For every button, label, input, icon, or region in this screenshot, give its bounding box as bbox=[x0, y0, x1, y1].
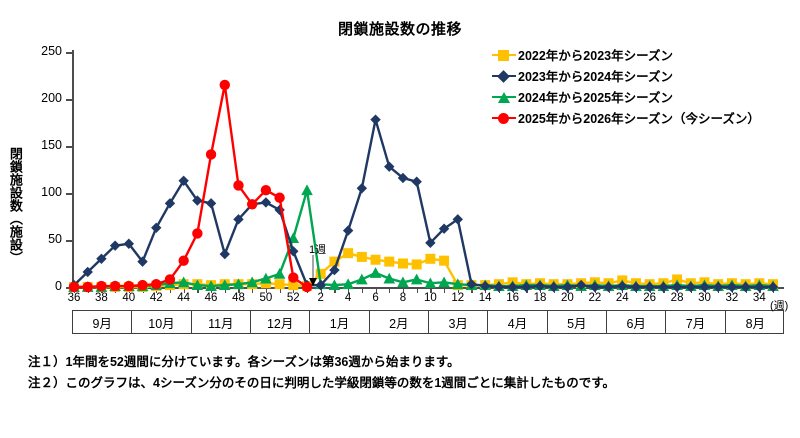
footnote-2: 注２）このグラフは、4シーズン分のその日に判明した学級閉鎖等の数を1週間ごとに集… bbox=[28, 373, 788, 394]
series-marker bbox=[96, 281, 106, 291]
series-line bbox=[74, 85, 307, 287]
series-marker bbox=[124, 281, 134, 291]
x-axis-tick-label: 18 bbox=[529, 292, 551, 304]
series-marker bbox=[261, 197, 271, 207]
x-axis-tick-label: 12 bbox=[447, 292, 469, 304]
series-marker bbox=[274, 268, 286, 279]
month-band-cell: 3月 bbox=[429, 311, 488, 333]
x-axis-tick-label: 38 bbox=[90, 292, 112, 304]
series-marker bbox=[439, 256, 449, 266]
month-band-cell: 9月 bbox=[73, 311, 132, 333]
series-marker bbox=[220, 249, 230, 259]
x-axis-tick-label: 6 bbox=[365, 292, 387, 304]
legend-item-2[interactable]: 2023年から2024年シーズン bbox=[492, 65, 760, 86]
x-axis-tick-label: 10 bbox=[419, 292, 441, 304]
x-axis-tick-label: 44 bbox=[173, 292, 195, 304]
x-axis-tick-label: 22 bbox=[584, 292, 606, 304]
series-marker bbox=[110, 281, 120, 291]
x-axis-tick-label: 4 bbox=[337, 292, 359, 304]
series-marker bbox=[275, 279, 285, 289]
month-band-cell: 12月 bbox=[251, 311, 310, 333]
x-axis-tick-label: 30 bbox=[694, 292, 716, 304]
x-axis-tick-label: 24 bbox=[611, 292, 633, 304]
legend-marker-triangle-icon bbox=[492, 91, 516, 103]
series-marker bbox=[83, 282, 93, 292]
month-band-cell: 8月 bbox=[726, 311, 785, 333]
x-axis-tick-label: 14 bbox=[474, 292, 496, 304]
legend-item-label: 2022年から2023年シーズン bbox=[518, 45, 673, 64]
x-axis-tick bbox=[362, 288, 363, 293]
series-marker bbox=[137, 280, 147, 290]
x-axis-tick bbox=[389, 288, 390, 293]
series-marker bbox=[425, 254, 435, 264]
legend-marker-square-icon bbox=[492, 49, 516, 61]
series-marker bbox=[247, 199, 257, 209]
series-marker bbox=[411, 177, 421, 187]
series-marker bbox=[206, 198, 216, 208]
series-marker bbox=[151, 279, 161, 289]
x-axis-tick-label: 2 bbox=[310, 292, 332, 304]
x-axis-tick-label: 52 bbox=[282, 292, 304, 304]
x-axis-tick-label: 32 bbox=[721, 292, 743, 304]
series-marker bbox=[357, 183, 367, 193]
month-band-cell: 11月 bbox=[192, 311, 251, 333]
y-axis-tick-label: 0 bbox=[18, 279, 62, 293]
series-marker bbox=[288, 272, 298, 282]
series-marker bbox=[178, 255, 188, 265]
x-axis-tick-label: 40 bbox=[118, 292, 140, 304]
x-axis-tick-label: 42 bbox=[145, 292, 167, 304]
x-axis-tick-label: 34 bbox=[748, 292, 770, 304]
legend-item-label: 2025年から2026年シーズン（今シーズン） bbox=[518, 108, 760, 127]
series-diamond bbox=[69, 114, 778, 292]
y-axis-tick-label: 250 bbox=[18, 44, 62, 58]
series-marker bbox=[192, 228, 202, 238]
series-marker bbox=[398, 259, 408, 269]
x-axis-tick-label: 16 bbox=[502, 292, 524, 304]
series-marker bbox=[371, 255, 381, 265]
chart-container: 閉鎖施設数の推移 閉鎖施設数（施設） 250200150100500 36384… bbox=[0, 0, 800, 438]
week-annotation-arrow bbox=[306, 255, 320, 287]
legend-item-4[interactable]: 2025年から2026年シーズン（今シーズン） bbox=[492, 107, 760, 128]
month-band: 9月10月11月12月1月2月3月4月5月6月7月8月 bbox=[72, 310, 784, 334]
chart-title: 閉鎖施設数の推移 bbox=[0, 18, 800, 39]
x-axis-tick-label: 28 bbox=[666, 292, 688, 304]
series-marker bbox=[69, 282, 79, 292]
y-axis-tick-label: 100 bbox=[18, 185, 62, 199]
x-axis-tick bbox=[417, 288, 418, 293]
series-marker bbox=[343, 225, 353, 235]
series-marker bbox=[384, 257, 394, 267]
y-axis-tick-label: 200 bbox=[18, 91, 62, 105]
series-marker bbox=[356, 274, 368, 285]
x-axis-tick-label: 20 bbox=[556, 292, 578, 304]
month-band-cell: 2月 bbox=[370, 311, 429, 333]
x-axis-tick bbox=[444, 288, 445, 293]
x-axis-tick-label: 8 bbox=[392, 292, 414, 304]
series-marker bbox=[220, 80, 230, 90]
legend-item-1[interactable]: 2022年から2023年シーズン bbox=[492, 44, 760, 65]
series-marker bbox=[274, 193, 284, 203]
series-marker bbox=[343, 248, 353, 258]
series-marker bbox=[233, 180, 243, 190]
legend-marker-circle-icon bbox=[492, 112, 516, 124]
month-band-cell: 4月 bbox=[488, 311, 547, 333]
series-marker bbox=[370, 267, 382, 278]
x-axis-tick-label: 36 bbox=[63, 292, 85, 304]
legend-marker-diamond-icon bbox=[492, 70, 516, 82]
series-marker bbox=[411, 274, 423, 285]
month-band-cell: 7月 bbox=[666, 311, 725, 333]
y-axis-tick-label: 150 bbox=[18, 138, 62, 152]
series-marker bbox=[165, 274, 175, 284]
legend-item-3[interactable]: 2024年から2025年シーズン bbox=[492, 86, 760, 107]
x-axis-tick-label: 46 bbox=[200, 292, 222, 304]
series-line bbox=[74, 190, 773, 287]
series-marker bbox=[261, 185, 271, 195]
series-marker bbox=[412, 259, 422, 269]
series-marker bbox=[206, 149, 216, 159]
month-band-cell: 10月 bbox=[132, 311, 191, 333]
month-band-cell: 5月 bbox=[548, 311, 607, 333]
series-marker bbox=[165, 198, 175, 208]
series-marker bbox=[370, 114, 380, 124]
series-circle bbox=[69, 80, 312, 293]
legend-item-label: 2023年から2024年シーズン bbox=[518, 66, 673, 85]
x-axis-unit-label: (週) bbox=[770, 297, 788, 313]
month-band-cell: 6月 bbox=[607, 311, 666, 333]
y-axis-title-text: 閉鎖施設数（施設） bbox=[8, 147, 22, 264]
series-marker bbox=[357, 252, 367, 262]
x-axis-tick-label: 48 bbox=[227, 292, 249, 304]
footnotes: 注１）1年間を52週間に分けています。各シーズンは第36週から始まります。注２）… bbox=[28, 352, 788, 394]
footnote-1: 注１）1年間を52週間に分けています。各シーズンは第36週から始まります。 bbox=[28, 352, 788, 373]
x-axis-tick-label: 26 bbox=[639, 292, 661, 304]
y-axis-tick-label: 50 bbox=[18, 232, 62, 246]
month-band-cell: 1月 bbox=[310, 311, 369, 333]
legend-item-label: 2024年から2025年シーズン bbox=[518, 87, 673, 106]
chart-legend: 2022年から2023年シーズン2023年から2024年シーズン2024年から2… bbox=[492, 44, 760, 128]
x-axis-tick-label: 50 bbox=[255, 292, 277, 304]
series-marker bbox=[301, 184, 313, 195]
series-marker bbox=[151, 223, 161, 233]
